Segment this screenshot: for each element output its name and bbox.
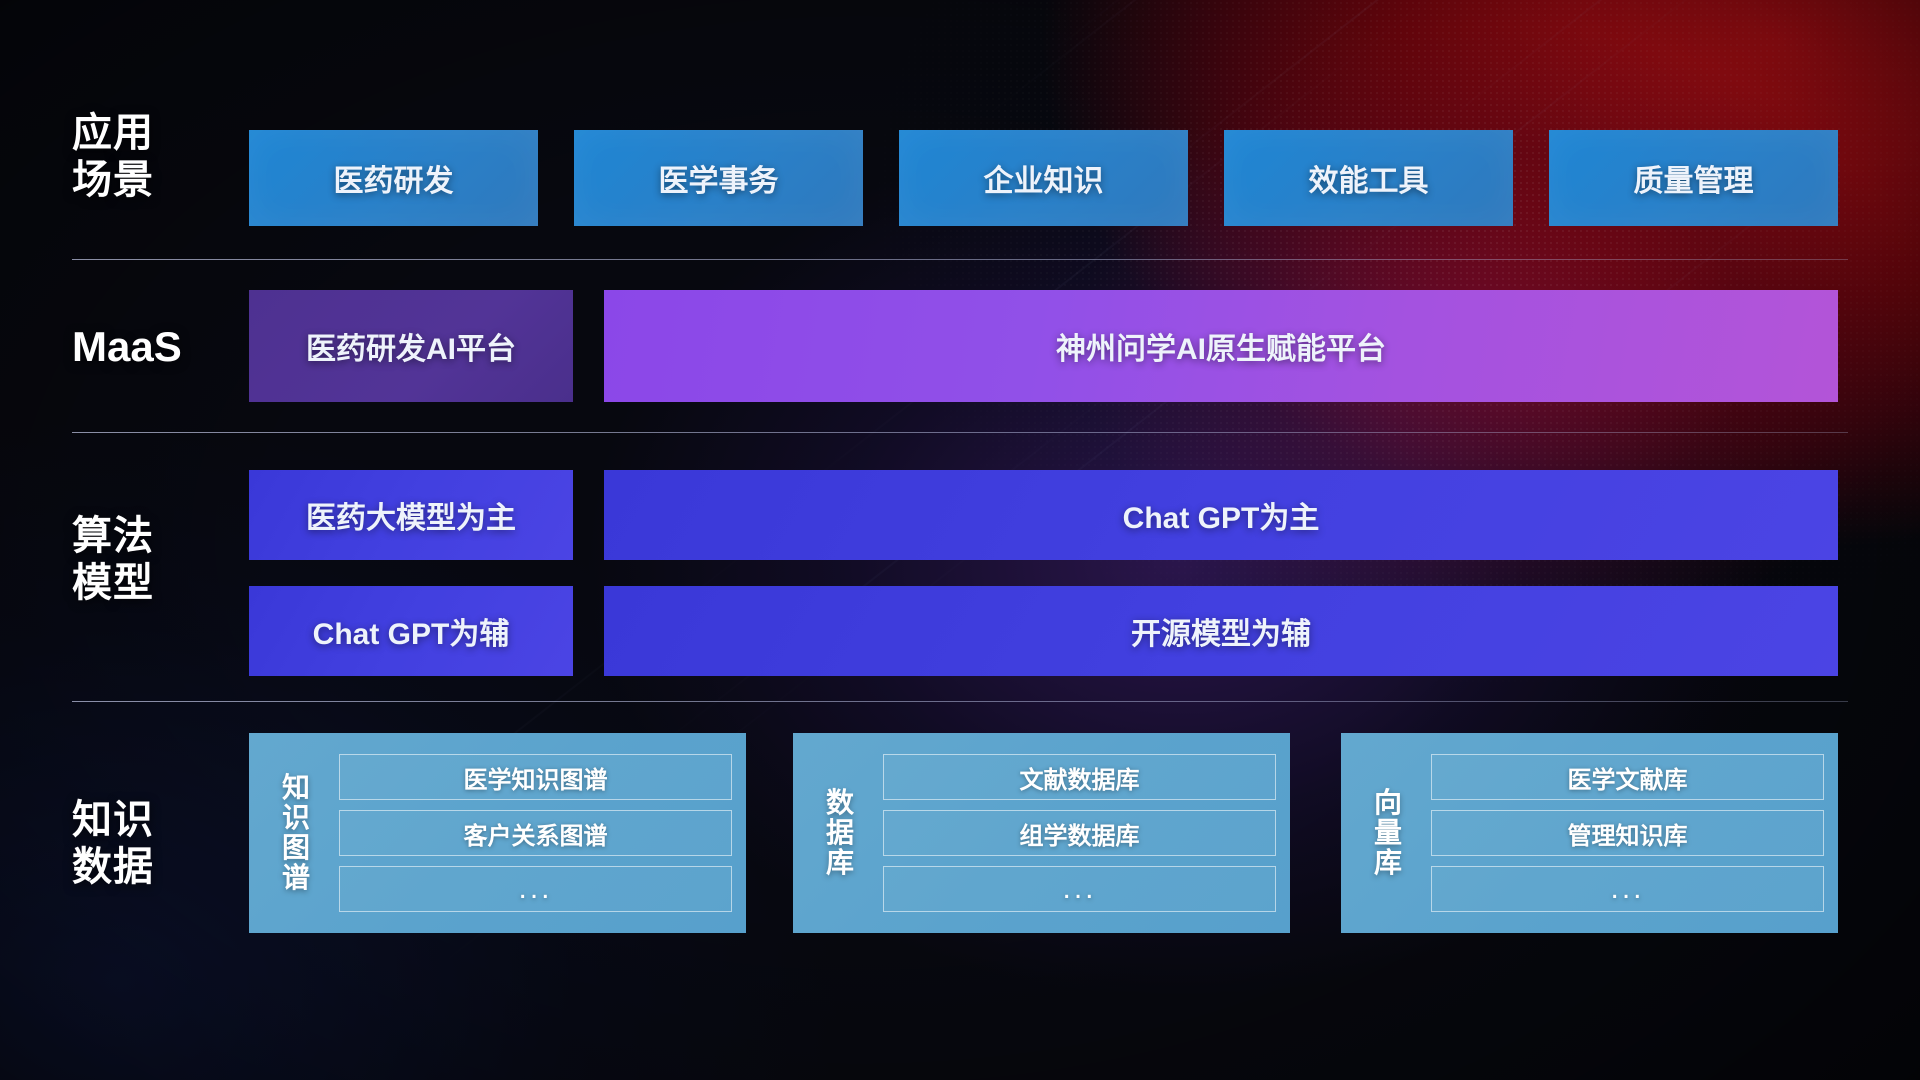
knowledge-group-vector[interactable]: 向 量 库 医学文献库 管理知识库 ... [1341, 733, 1838, 933]
divider-maas-algorithm [72, 432, 1848, 433]
knowledge-group-graph-items: 医学知识图谱 客户关系图谱 ... [325, 754, 732, 912]
knowledge-group-vector-items: 医学文献库 管理知识库 ... [1417, 754, 1824, 912]
kg-char-2: 图 [282, 833, 310, 863]
knowledge-group-graph-vertical-label: 知 识 图 谱 [267, 773, 325, 893]
vec-char-1: 量 [1374, 818, 1402, 848]
maas-box-left-label: 医药研发AI平台 [306, 324, 516, 368]
row-label-application-line1: 应用 [72, 110, 212, 157]
algo-box-right-primary-label: Chat GPT为主 [1123, 493, 1320, 537]
row-label-algorithm-line1: 算法 [72, 513, 212, 560]
maas-box-shenzhou-platform[interactable]: 神州问学AI原生赋能平台 [604, 290, 1838, 402]
vec-char-2: 库 [1374, 848, 1402, 878]
app-box-4[interactable]: 效能工具 [1224, 130, 1513, 226]
knowledge-graph-item-2[interactable]: 客户关系图谱 [339, 810, 732, 856]
kg-char-0: 知 [282, 773, 310, 803]
vector-item-1[interactable]: 医学文献库 [1431, 754, 1824, 800]
app-box-3-label: 企业知识 [984, 156, 1104, 200]
algo-box-left-secondary-label: Chat GPT为辅 [313, 609, 510, 653]
maas-box-right-label: 神州问学AI原生赋能平台 [1056, 324, 1386, 368]
divider-algorithm-knowledge [72, 701, 1848, 702]
app-box-1[interactable]: 医药研发 [249, 130, 538, 226]
app-box-4-label: 效能工具 [1309, 156, 1429, 200]
knowledge-group-database[interactable]: 数 据 库 文献数据库 组学数据库 ... [793, 733, 1290, 933]
vec-char-0: 向 [1374, 788, 1402, 818]
maas-box-medical-ai-platform[interactable]: 医药研发AI平台 [249, 290, 573, 402]
algo-box-left-primary-label: 医药大模型为主 [306, 493, 516, 537]
app-box-5[interactable]: 质量管理 [1549, 130, 1838, 226]
app-box-1-label: 医药研发 [334, 156, 454, 200]
row-label-application-line2: 场景 [72, 157, 212, 204]
divider-application-maas [72, 259, 1848, 260]
knowledge-graph-item-1[interactable]: 医学知识图谱 [339, 754, 732, 800]
database-item-1[interactable]: 文献数据库 [883, 754, 1276, 800]
row-label-application: 应用 场景 [72, 110, 212, 204]
row-label-knowledge: 知识 数据 [72, 797, 212, 891]
vector-item-2[interactable]: 管理知识库 [1431, 810, 1824, 856]
db-char-0: 数 [826, 788, 854, 818]
db-char-2: 库 [826, 848, 854, 878]
kg-char-3: 谱 [282, 863, 310, 893]
algo-box-right-primary[interactable]: Chat GPT为主 [604, 470, 1838, 560]
algo-box-right-secondary[interactable]: 开源模型为辅 [604, 586, 1838, 676]
knowledge-graph-item-more[interactable]: ... [339, 866, 732, 912]
row-label-maas: MaaS [72, 322, 212, 372]
row-label-algorithm-line2: 模型 [72, 560, 212, 607]
app-box-3[interactable]: 企业知识 [899, 130, 1188, 226]
app-box-2-label: 医学事务 [659, 156, 779, 200]
row-label-algorithm: 算法 模型 [72, 513, 212, 607]
row-label-maas-text: MaaS [72, 322, 212, 372]
kg-char-1: 识 [282, 803, 310, 833]
algo-box-left-primary[interactable]: 医药大模型为主 [249, 470, 573, 560]
database-item-2[interactable]: 组学数据库 [883, 810, 1276, 856]
app-box-2[interactable]: 医学事务 [574, 130, 863, 226]
db-char-1: 据 [826, 818, 854, 848]
algo-box-left-secondary[interactable]: Chat GPT为辅 [249, 586, 573, 676]
algo-box-right-secondary-label: 开源模型为辅 [1131, 609, 1311, 653]
app-box-5-label: 质量管理 [1634, 156, 1754, 200]
row-label-knowledge-line2: 数据 [72, 844, 212, 891]
knowledge-group-database-items: 文献数据库 组学数据库 ... [869, 754, 1276, 912]
row-label-knowledge-line1: 知识 [72, 797, 212, 844]
knowledge-group-graph[interactable]: 知 识 图 谱 医学知识图谱 客户关系图谱 ... [249, 733, 746, 933]
knowledge-group-vector-vertical-label: 向 量 库 [1359, 788, 1417, 878]
vector-item-more[interactable]: ... [1431, 866, 1824, 912]
knowledge-group-database-vertical-label: 数 据 库 [811, 788, 869, 878]
diagram-canvas: 应用 场景 医药研发 医学事务 企业知识 效能工具 质量管理 MaaS 医药研发… [0, 0, 1920, 1080]
database-item-more[interactable]: ... [883, 866, 1276, 912]
